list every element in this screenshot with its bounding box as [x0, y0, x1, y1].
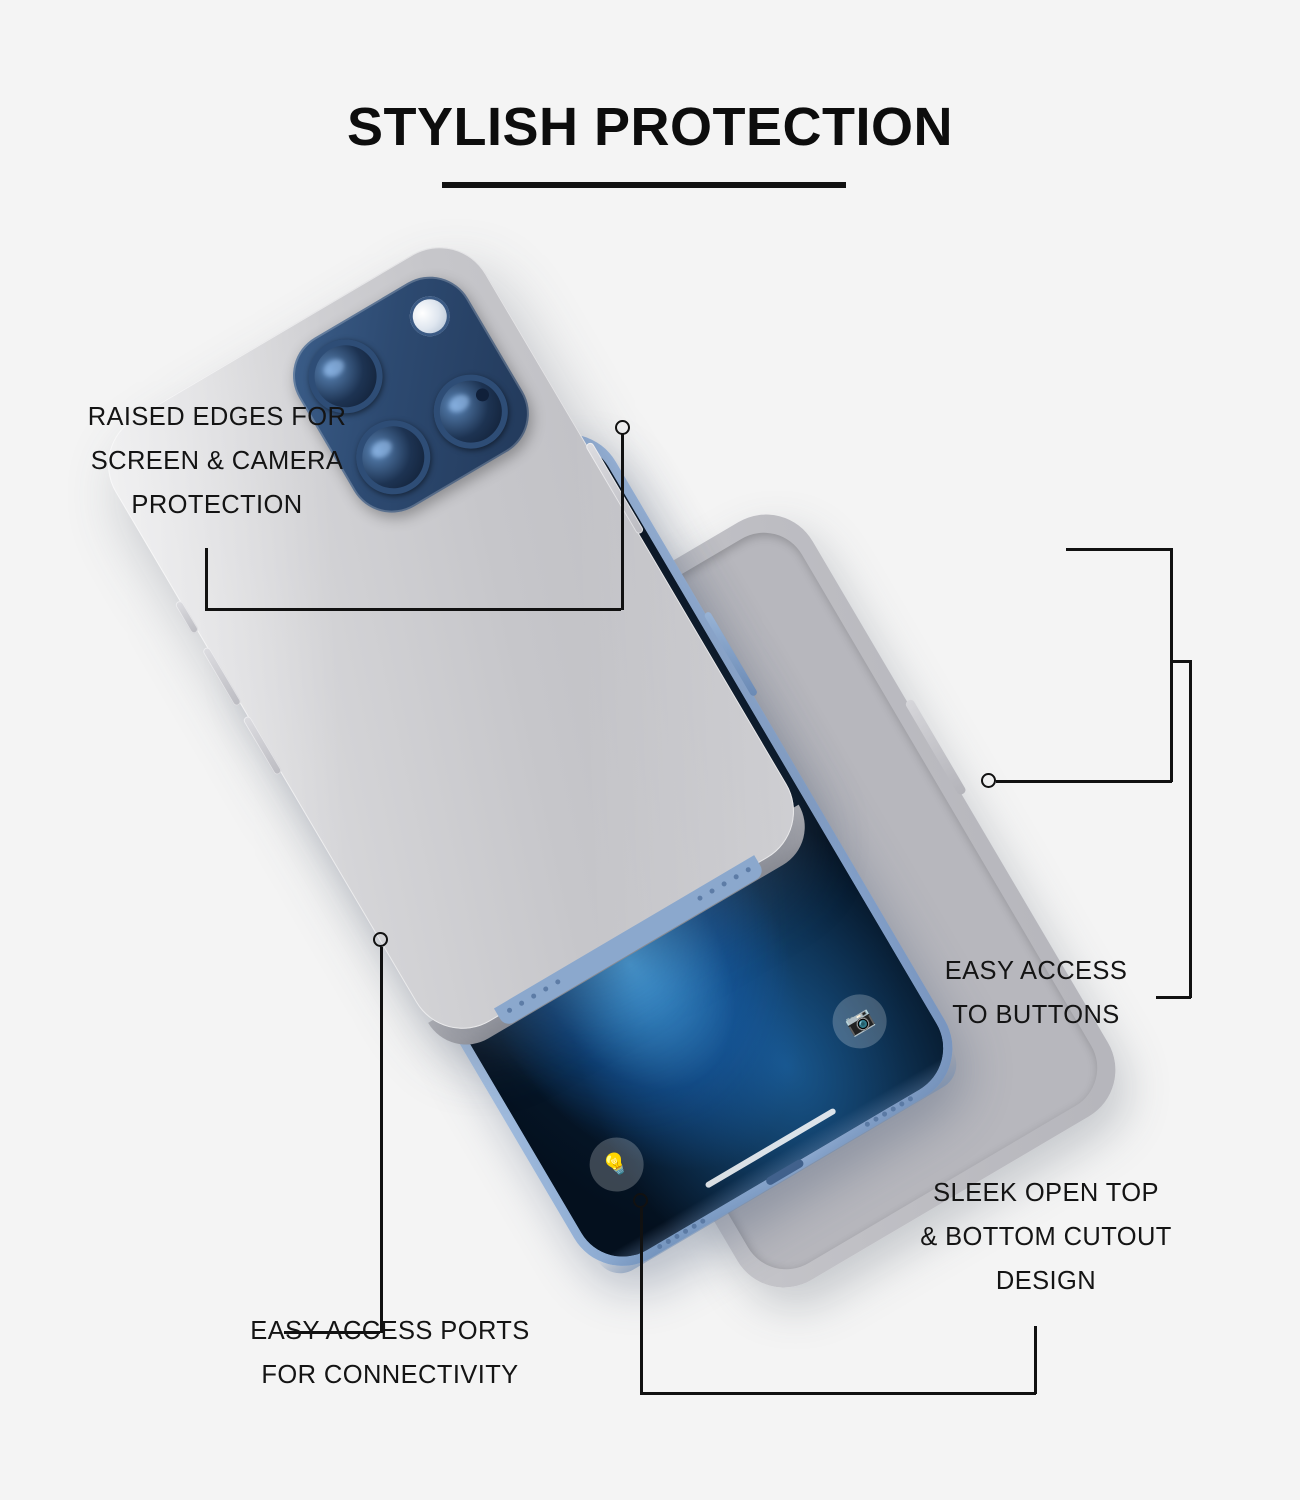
callout-sleek-open-cutout: SLEEK OPEN TOP & BOTTOM CUTOUT DESIGN: [896, 1172, 1196, 1304]
marker-sleek-cutout: [633, 1193, 648, 1208]
callout-easy-access-buttons: EASY ACCESS TO BUTTONS: [912, 950, 1160, 1038]
leader-line-raised-edges-vertical: [205, 548, 208, 610]
leader-line-buttons-jog: [1170, 660, 1191, 663]
leader-line-buttons-top: [1066, 548, 1172, 551]
leader-line-cutout-vertical: [640, 1208, 643, 1394]
callout-easy-access-ports: EASY ACCESS PORTS FOR CONNECTIVITY: [222, 1310, 558, 1398]
leader-line-raised-edges-riser: [621, 434, 624, 610]
speaker-grille-left: [656, 1218, 706, 1250]
camera-lens-3: [420, 361, 521, 462]
leader-line-ports-vertical: [380, 947, 383, 1333]
leader-line-buttons-horizontal: [996, 780, 1172, 783]
leader-line-buttons-vertical: [1170, 548, 1173, 782]
leader-line-cutout-horizontal: [640, 1392, 1036, 1395]
leader-line-buttons-end: [1156, 996, 1191, 999]
marker-easy-access-ports: [373, 932, 388, 947]
flash-icon: [402, 289, 457, 344]
leader-line-cutout-riser: [1034, 1326, 1037, 1394]
leader-line-raised-edges-horizontal: [205, 608, 621, 611]
callout-raised-edges: RAISED EDGES FOR SCREEN & CAMERA PROTECT…: [62, 396, 372, 528]
marker-raised-edges: [615, 420, 630, 435]
leader-line-buttons-vertical-2: [1189, 660, 1192, 998]
marker-easy-access-buttons: [981, 773, 996, 788]
